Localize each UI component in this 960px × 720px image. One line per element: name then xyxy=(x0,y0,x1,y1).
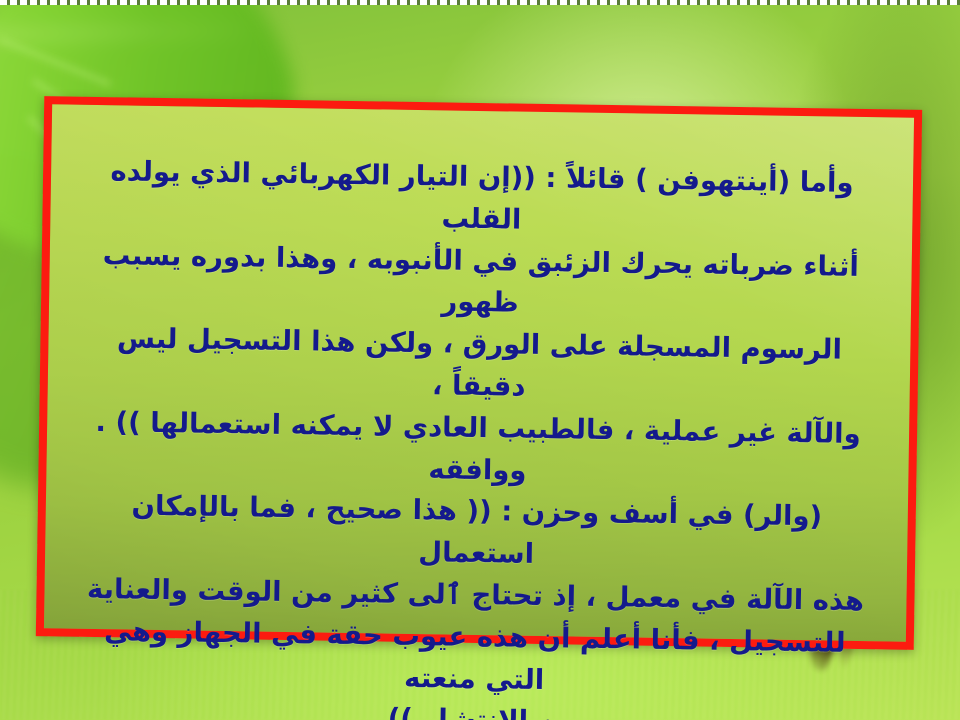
arabic-body-text: وأما (أينتهوفن ) قائلاً : ((إن التيار ال… xyxy=(72,151,883,720)
top-dashed-rule xyxy=(0,0,960,5)
text-card-body: وأما (أينتهوفن ) قائلاً : ((إن التيار ال… xyxy=(42,104,914,720)
text-card-container: وأما (أينتهوفن ) قائلاً : ((إن التيار ال… xyxy=(36,96,922,650)
text-card: وأما (أينتهوفن ) قائلاً : ((إن التيار ال… xyxy=(36,96,922,650)
slide-canvas: وأما (أينتهوفن ) قائلاً : ((إن التيار ال… xyxy=(0,0,960,720)
